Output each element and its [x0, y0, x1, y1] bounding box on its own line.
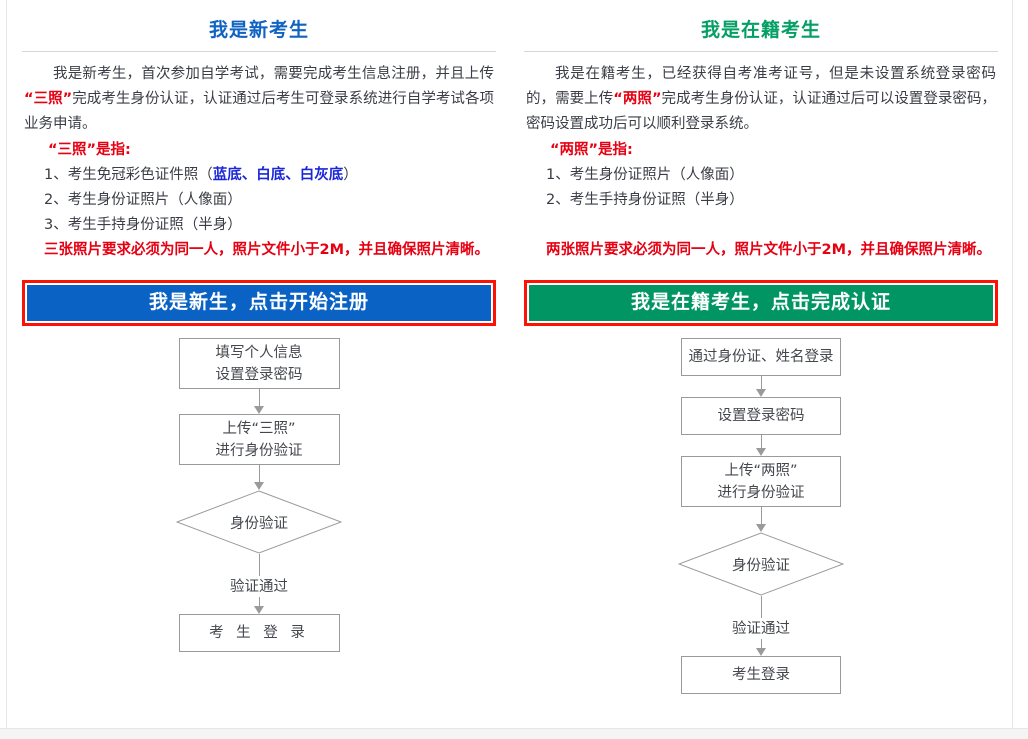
page-edge-left	[0, 0, 7, 728]
complete-authentication-button[interactable]: 我是在籍考生，点击完成认证	[524, 280, 998, 326]
panel-title-enrolled-candidate: 我是在籍考生	[524, 0, 998, 44]
start-registration-button-label: 我是新生，点击开始注册	[27, 285, 491, 321]
flow-line	[259, 554, 260, 576]
title-divider-right	[524, 51, 998, 52]
list-item: 2、考生身份证照片（人像面）	[44, 188, 496, 213]
flowchart-enrolled-candidate: 通过身份证、姓名登录 设置登录密码 上传“两照” 进行身份验证	[524, 326, 998, 694]
list-item: 2、考生手持身份证照（半身）	[546, 188, 998, 213]
flow-arrow-down-icon	[754, 435, 768, 456]
list-item-text-pre: 2、考生手持身份证照（半身）	[546, 192, 744, 208]
flow-node-line: 上传“三照”	[222, 418, 295, 440]
start-registration-button[interactable]: 我是新生，点击开始注册	[22, 280, 496, 326]
intro-text-left-a: 我是新考生，首次参加自学考试，需要完成考生信息注册，并且上传	[53, 66, 494, 82]
flow-arrow-down-icon	[252, 597, 266, 614]
flow-decision-label: 身份验证	[678, 532, 844, 596]
flow-node-fill-info: 填写个人信息 设置登录密码	[179, 338, 340, 389]
list-item: 3、考生手持身份证照（半身）	[44, 213, 496, 238]
flow-edge-label-pass: 验证通过	[732, 618, 790, 639]
flow-node-line: 进行身份验证	[216, 440, 303, 462]
list-item: 1、考生免冠彩色证件照（蓝底、白底、白灰底）	[44, 163, 496, 188]
cta-wrap-right: 我是在籍考生，点击完成认证	[524, 280, 998, 326]
flow-node-line: 通过身份证、姓名登录	[689, 346, 834, 368]
requirement-list-right: 1、考生身份证照片（人像面） 2、考生手持身份证照（半身）	[524, 163, 998, 213]
flow-node-line: 考生登录	[732, 664, 790, 686]
list-item-text-pre: 3、考生手持身份证照（半身）	[44, 217, 242, 233]
page-edge-right	[1012, 0, 1028, 728]
flow-node-line: 设置登录密码	[216, 364, 303, 386]
flow-node-set-password: 设置登录密码	[681, 397, 841, 435]
cta-wrap-left: 我是新生，点击开始注册	[22, 280, 496, 326]
flow-node-candidate-login: 考生登录	[681, 656, 841, 694]
flow-arrow-down-icon	[754, 639, 768, 656]
flow-decision-label: 身份验证	[176, 490, 342, 554]
list-item-text-pre: 1、考生免冠彩色证件照（	[44, 167, 213, 183]
two-column-layout: 我是新考生 我是新考生，首次参加自学考试，需要完成考生信息注册，并且上传“三照”…	[8, 0, 1012, 728]
flow-node-line: 进行身份验证	[718, 482, 805, 504]
panel-title-new-candidate: 我是新考生	[22, 0, 496, 44]
flow-arrow-down-icon	[754, 376, 768, 397]
list-item-text-pre: 2、考生身份证照片（人像面）	[44, 192, 242, 208]
photo-warning-right: 两张照片要求必须为同一人，照片文件小于2M，并且确保照片清晰。	[524, 238, 998, 263]
flow-edge-label-pass: 验证通过	[230, 576, 288, 597]
flow-node-line: 填写个人信息	[216, 342, 303, 364]
flow-node-candidate-login: 考 生 登 录	[179, 614, 340, 652]
flow-node-line: 考 生 登 录	[209, 622, 309, 644]
list-item-highlight: 蓝底、白底、白灰底	[213, 167, 344, 183]
panel-new-candidate: 我是新考生 我是新考生，首次参加自学考试，需要完成考生信息注册，并且上传“三照”…	[8, 0, 510, 728]
sub-heading-right: “两照”是指:	[524, 138, 998, 163]
page-root: 我是新考生 我是新考生，首次参加自学考试，需要完成考生信息注册，并且上传“三照”…	[0, 0, 1028, 739]
flow-decision-identity-check: 身份验证	[678, 532, 844, 596]
intro-highlight-left: “三照”	[24, 91, 72, 107]
flow-arrow-down-icon	[252, 465, 266, 490]
intro-paragraph-right: 我是在籍考生，已经获得自考准考证号，但是未设置系统登录密码的，需要上传“两照”完…	[524, 62, 998, 137]
intro-text-left-b: 完成考生身份认证，认证通过后考生可登录系统进行自学考试各项业务申请。	[24, 91, 494, 132]
intro-paragraph-left: 我是新考生，首次参加自学考试，需要完成考生信息注册，并且上传“三照”完成考生身份…	[22, 62, 496, 137]
photo-warning-left: 三张照片要求必须为同一人，照片文件小于2M，并且确保照片清晰。	[22, 238, 496, 263]
list-item-text-pre: 1、考生身份证照片（人像面）	[546, 167, 744, 183]
flowchart-new-candidate: 填写个人信息 设置登录密码 上传“三照” 进行身份验证	[22, 326, 496, 652]
flow-node-line: 设置登录密码	[718, 405, 805, 427]
flow-line	[761, 596, 762, 618]
intro-highlight-right: “两照”	[613, 91, 661, 107]
sub-heading-left: “三照”是指:	[22, 138, 496, 163]
title-divider-left	[22, 51, 496, 52]
page-footer-strip	[0, 728, 1028, 739]
requirement-list-left: 1、考生免冠彩色证件照（蓝底、白底、白灰底） 2、考生身份证照片（人像面） 3、…	[22, 163, 496, 238]
flow-node-upload-photos: 上传“三照” 进行身份验证	[179, 414, 340, 465]
flow-arrow-down-icon	[252, 389, 266, 414]
flow-node-line: 上传“两照”	[724, 460, 797, 482]
flow-arrow-down-icon	[754, 507, 768, 532]
flow-decision-identity-check: 身份验证	[176, 490, 342, 554]
list-item-text-post: ）	[343, 167, 358, 183]
flow-node-upload-photos: 上传“两照” 进行身份验证	[681, 456, 841, 507]
flow-node-login-with-id: 通过身份证、姓名登录	[681, 338, 841, 376]
list-item: 1、考生身份证照片（人像面）	[546, 163, 998, 188]
panel-enrolled-candidate: 我是在籍考生 我是在籍考生，已经获得自考准考证号，但是未设置系统登录密码的，需要…	[510, 0, 1012, 728]
complete-authentication-button-label: 我是在籍考生，点击完成认证	[529, 285, 993, 321]
